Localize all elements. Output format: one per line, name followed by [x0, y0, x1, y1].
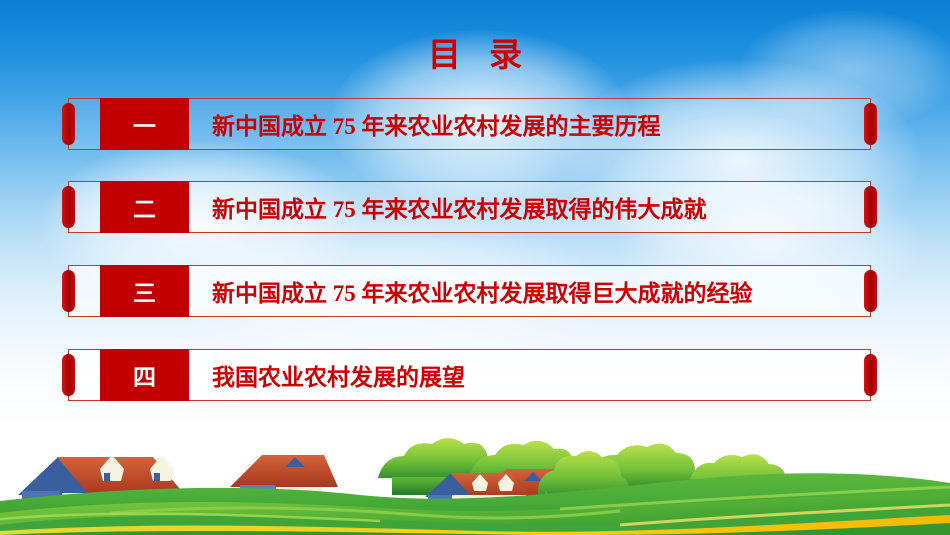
toc-item-1[interactable]: 一 新中国成立 75 年来农业农村发展的主要历程 [68, 98, 871, 150]
toc-number-badge-4: 四 [100, 349, 189, 401]
left-pill-marker [62, 354, 75, 396]
toc-item-label-1: 新中国成立 75 年来农业农村发展的主要历程 [212, 99, 860, 149]
toc-number-label: 四 [133, 358, 156, 392]
right-pill-marker [864, 103, 877, 145]
right-pill-marker [864, 270, 877, 312]
left-pill-marker [62, 270, 75, 312]
toc-number-label: 二 [133, 190, 156, 224]
toc-item-label-4: 我国农业农村发展的展望 [212, 350, 860, 400]
toc-number-badge-1: 一 [100, 98, 189, 150]
landscape-illustration [0, 405, 950, 535]
left-pill-marker [62, 103, 75, 145]
toc-list: 一 新中国成立 75 年来农业农村发展的主要历程 二 新中国成立 75 年来农业… [0, 0, 950, 452]
toc-item-label-2: 新中国成立 75 年来农业农村发展取得的伟大成就 [212, 182, 860, 232]
slide-canvas: 目 录 一 新中国成立 75 年来农业农村发展的主要历程 二 新中国成立 75 … [0, 0, 950, 535]
toc-item-2[interactable]: 二 新中国成立 75 年来农业农村发展取得的伟大成就 [68, 181, 871, 233]
toc-number-badge-2: 二 [100, 181, 189, 233]
right-pill-marker [864, 186, 877, 228]
toc-number-label: 一 [133, 107, 156, 141]
toc-item-label-3: 新中国成立 75 年来农业农村发展取得巨大成就的经验 [212, 266, 860, 316]
right-pill-marker [864, 354, 877, 396]
toc-number-label: 三 [133, 274, 156, 308]
left-pill-marker [62, 186, 75, 228]
toc-item-4[interactable]: 四 我国农业农村发展的展望 [68, 349, 871, 401]
toc-item-3[interactable]: 三 新中国成立 75 年来农业农村发展取得巨大成就的经验 [68, 265, 871, 317]
toc-number-badge-3: 三 [100, 265, 189, 317]
